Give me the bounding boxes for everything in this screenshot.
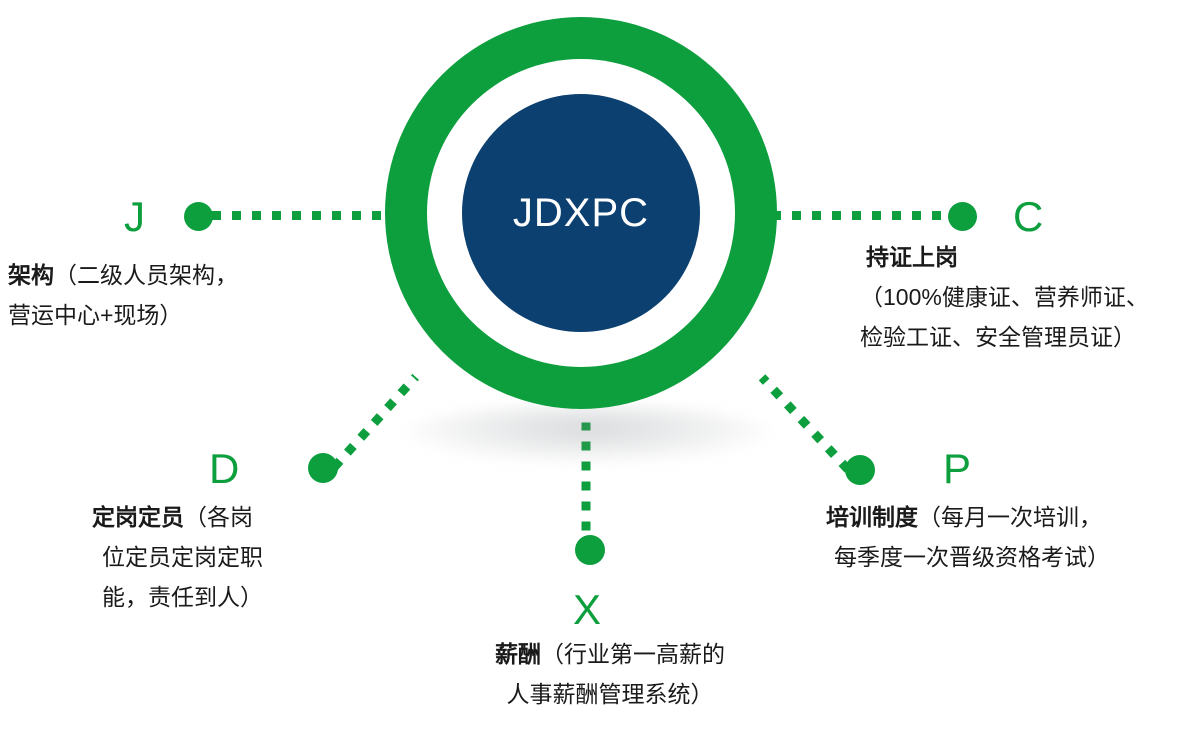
node-detail-p-1: （每月一次培训， bbox=[918, 504, 1102, 530]
node-text-p: 培训制度（每月一次培训， 每季度一次晋级资格考试） bbox=[826, 497, 1196, 577]
node-keyword-j: 架构 bbox=[8, 262, 54, 288]
center-core-circle: JDXPC bbox=[462, 94, 700, 332]
node-text-x-line1: 薪酬（行业第一高薪的 bbox=[440, 634, 780, 674]
node-dot-j[interactable] bbox=[184, 202, 213, 231]
node-letter-c: C bbox=[1013, 196, 1043, 238]
node-keyword-p: 培训制度 bbox=[826, 504, 918, 530]
node-detail-d-1: （各岗 bbox=[184, 504, 253, 530]
node-dot-d[interactable] bbox=[308, 453, 338, 483]
node-dot-p[interactable] bbox=[845, 455, 875, 485]
node-text-d-line1: 定岗定员（各岗 bbox=[92, 497, 342, 537]
connector-line-c bbox=[772, 211, 950, 220]
node-text-j-line1: 架构（二级人员架构， bbox=[8, 255, 308, 295]
node-letter-p: P bbox=[943, 448, 971, 490]
node-detail-j-1: （二级人员架构， bbox=[54, 262, 238, 288]
node-dot-c[interactable] bbox=[948, 202, 977, 231]
node-text-j: 架构（二级人员架构， 营运中心+现场） bbox=[8, 255, 308, 335]
node-text-d-line3: 能，责任到人） bbox=[102, 577, 342, 617]
node-text-x-line2: 人事薪酬管理系统） bbox=[440, 674, 780, 714]
node-letter-j: J bbox=[124, 196, 145, 238]
node-text-p-line1: 培训制度（每月一次培训， bbox=[826, 497, 1196, 537]
node-detail-x-1: （行业第一高薪的 bbox=[541, 641, 725, 667]
connector-line-p bbox=[759, 374, 852, 472]
node-keyword-c: 持证上岗 bbox=[866, 244, 958, 270]
node-dot-x[interactable] bbox=[575, 535, 605, 565]
connector-line-j bbox=[212, 211, 390, 220]
node-text-c-line2: （100%健康证、营养师证、 bbox=[860, 277, 1196, 317]
node-keyword-d: 定岗定员 bbox=[92, 504, 184, 530]
node-text-j-line2: 营运中心+现场） bbox=[8, 295, 308, 335]
node-text-d-line2: 位定员定岗定职 bbox=[102, 537, 342, 577]
ring-drop-shadow bbox=[398, 405, 778, 465]
node-text-x: 薪酬（行业第一高薪的 人事薪酬管理系统） bbox=[440, 634, 780, 714]
node-text-c-line1: 持证上岗 bbox=[866, 237, 1196, 277]
diagram-canvas: JDXPC J 架构（二级人员架构， 营运中心+现场） C 持证上岗 （100%… bbox=[0, 0, 1200, 750]
node-text-c: 持证上岗 （100%健康证、营养师证、 检验工证、安全管理员证） bbox=[866, 237, 1196, 357]
node-text-c-line3: 检验工证、安全管理员证） bbox=[860, 317, 1196, 357]
node-letter-x: X bbox=[573, 589, 601, 631]
node-text-d: 定岗定员（各岗 位定员定岗定职 能，责任到人） bbox=[92, 497, 342, 617]
node-letter-d: D bbox=[209, 448, 239, 490]
node-keyword-x: 薪酬 bbox=[495, 641, 541, 667]
center-label: JDXPC bbox=[513, 193, 649, 233]
connector-line-d bbox=[331, 374, 419, 471]
node-text-p-line2: 每季度一次晋级资格考试） bbox=[834, 537, 1196, 577]
